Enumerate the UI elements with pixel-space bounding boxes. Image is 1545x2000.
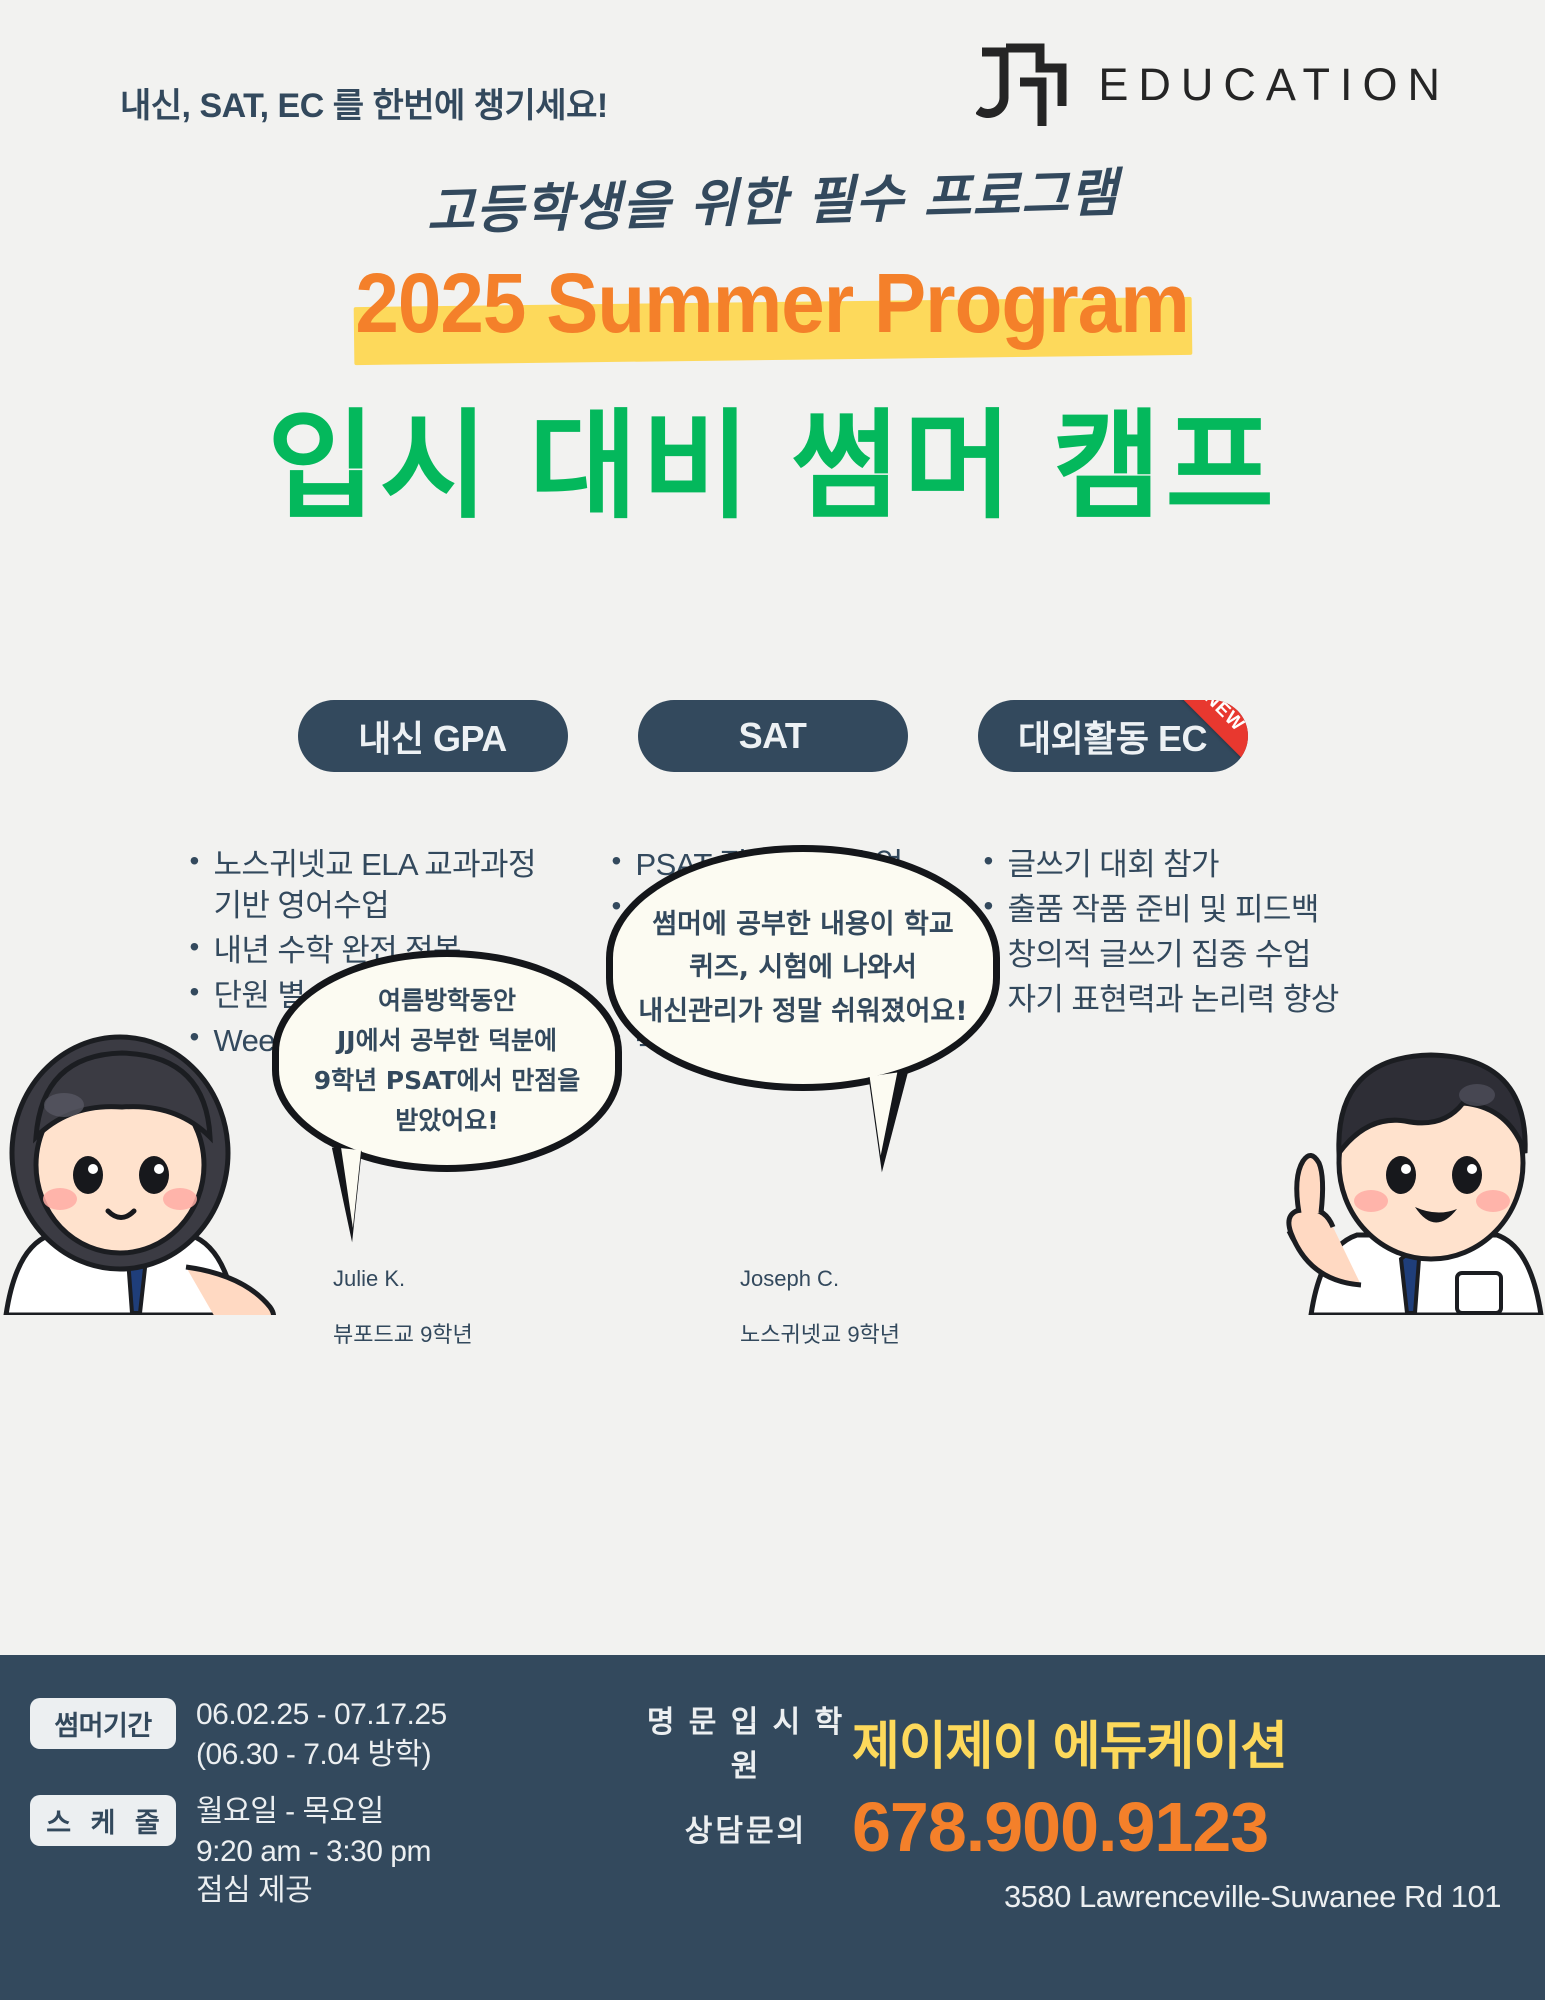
testimonial-name: Julie K.	[333, 1265, 473, 1293]
pill-label: 대외활동 EC	[1018, 710, 1207, 762]
poster-root: 내신, SAT, EC 를 한번에 챙기세요! EDUCATION 고등학생을 …	[0, 0, 1545, 2000]
category-pill-gpa[interactable]: 내신 GPA	[298, 700, 568, 772]
period-value: 06.02.25 - 07.17.25 (06.30 - 7.04 방학)	[196, 1695, 447, 1774]
period-chip: 썸머기간	[30, 1698, 176, 1749]
footer-bar: 썸머기간 06.02.25 - 07.17.25 (06.30 - 7.04 방…	[0, 1655, 1545, 2000]
testimonial-school: 뷰포드교 9학년	[333, 1321, 473, 1349]
jj-logo-mark	[976, 42, 1072, 128]
phone-number[interactable]: 678.900.9123	[852, 1791, 1268, 1865]
footer-academy-row: 명 문 입 시 학 원 제이제이 에듀케이션	[640, 1697, 1509, 1785]
schedule-value: 월요일 - 목요일 9:20 am - 3:30 pm 점심 제공	[196, 1792, 431, 1911]
footer-schedule-block: 썸머기간 06.02.25 - 07.17.25 (06.30 - 7.04 방…	[30, 1695, 447, 1929]
footer-period-row: 썸머기간 06.02.25 - 07.17.25 (06.30 - 7.04 방…	[30, 1695, 447, 1774]
category-pill-row: 내신 GPA SAT 대외활동 EC NEW	[0, 700, 1545, 772]
speech-bubble-julie: 여름방학동안 JJ에서 공부한 덕분에 9학년 PSAT에서 만점을 받았어요!	[272, 950, 622, 1172]
category-pill-sat[interactable]: SAT	[638, 700, 908, 772]
korean-main-title: 입시 대비 썸머 캠프	[0, 370, 1545, 541]
category-pill-ec[interactable]: 대외활동 EC NEW	[978, 700, 1248, 772]
summer-program-title: 2025 Summer Program	[356, 255, 1189, 352]
tagline: 내신, SAT, EC 를 한번에 챙기세요!	[120, 78, 608, 127]
brand-logo: EDUCATION	[976, 42, 1450, 128]
list-item: 창의적 글쓰기 집중 수업	[980, 935, 1360, 976]
logo-wordmark: EDUCATION	[1098, 59, 1450, 111]
student-illustration-boy	[1225, 985, 1545, 1315]
testimonial-quote: 여름방학동안 JJ에서 공부한 덕분에 9학년 PSAT에서 만점을 받았어요!	[314, 981, 581, 1141]
testimonial-credit-julie: Julie K. 뷰포드교 9학년	[333, 1237, 473, 1378]
address-line: 3580 Lawrenceville-Suwanee Rd 101	[640, 1879, 1509, 1915]
academy-label: 명 문 입 시 학 원	[640, 1697, 852, 1785]
testimonial-school: 노스귀넷교 9학년	[740, 1321, 900, 1349]
list-item: 글쓰기 대회 참가	[980, 845, 1360, 886]
pill-label: SAT	[739, 715, 807, 757]
schedule-chip: 스 케 줄	[30, 1795, 176, 1846]
list-item: 출품 작품 준비 및 피드백	[980, 890, 1360, 931]
testimonial-credit-joseph: Joseph C. 노스귀넷교 9학년	[740, 1237, 900, 1378]
testimonial-quote: 썸머에 공부한 내용이 학교 퀴즈, 시험에 나와서 내신관리가 정말 쉬워졌어…	[638, 903, 967, 1033]
contact-label: 상담문의	[640, 1806, 852, 1850]
footer-phone-row[interactable]: 상담문의 678.900.9123	[640, 1791, 1509, 1865]
pill-label: 내신 GPA	[358, 710, 507, 762]
summer-title-wrap: 2025 Summer Program	[0, 255, 1545, 352]
footer-contact-block: 명 문 입 시 학 원 제이제이 에듀케이션 상담문의 678.900.9123…	[640, 1697, 1509, 1915]
footer-schedule-row: 스 케 줄 월요일 - 목요일 9:20 am - 3:30 pm 점심 제공	[30, 1792, 447, 1911]
speech-bubble-joseph: 썸머에 공부한 내용이 학교 퀴즈, 시험에 나와서 내신관리가 정말 쉬워졌어…	[606, 845, 1000, 1091]
list-item: 노스귀넷교 ELA 교과과정 기반 영어수업	[186, 845, 586, 927]
student-illustration-girl	[0, 985, 320, 1315]
testimonial-name: Joseph C.	[740, 1265, 900, 1293]
script-subtitle: 고등학생을 위한 필수 프로그램	[0, 138, 1545, 256]
academy-name: 제이제이 에듀케이션	[852, 1704, 1287, 1779]
